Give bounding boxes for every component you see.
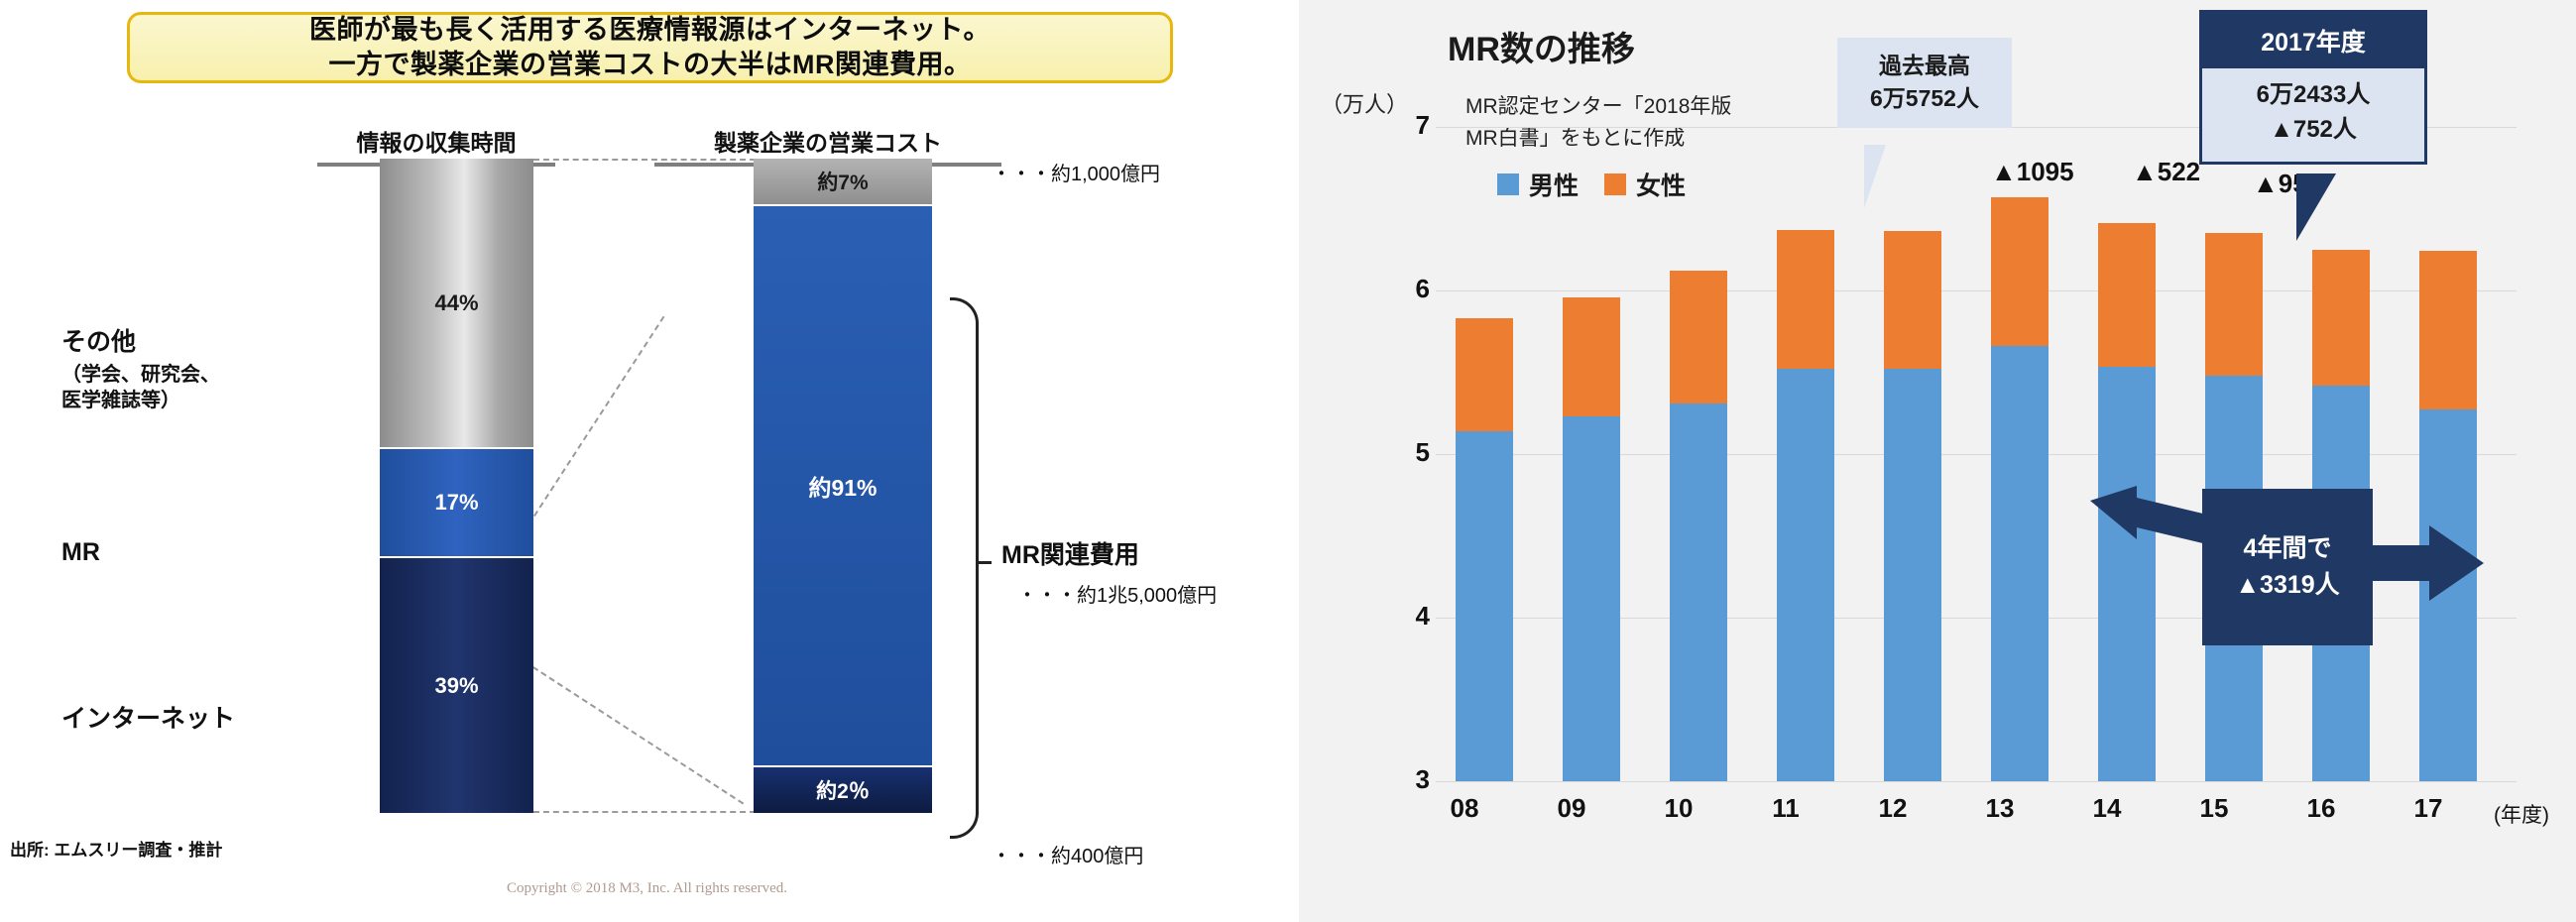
y-tick-5: 5 [1386, 437, 1430, 468]
x-label-12: 12 [1858, 793, 1928, 824]
bar-segment-mr: 17% [380, 447, 533, 558]
brace-bracket [950, 297, 979, 839]
connector-upper-diagonal [533, 316, 664, 517]
source-note: 出所: エムスリー調査・推計 [10, 836, 222, 861]
callout-2017-header: 2017年度 [2202, 13, 2424, 68]
callout-2017-body: 6万2433人 ▲752人 [2202, 68, 2424, 162]
cost-segment-other: 約7% [754, 159, 932, 204]
title-banner: 医師が最も長く活用する医療情報源はインターネット。 一方で製薬企業の営業コストの… [127, 12, 1173, 83]
row-label-internet: インターネット [61, 699, 235, 735]
callout-2017-line1: 6万2433人 [2202, 78, 2424, 113]
connector-top [533, 159, 756, 161]
callout-2017-line2: ▲752人 [2202, 113, 2424, 148]
callout-four-year-line1: 4年間で [2244, 530, 2332, 568]
callout-peak: 過去最高 6万5752人 [1837, 38, 2012, 128]
x-label-16: 16 [2286, 793, 2356, 824]
connector-bottom [533, 811, 756, 813]
plot-area: 7 6 5 4 3 [1408, 59, 2518, 781]
y-tick-7: 7 [1386, 110, 1430, 141]
note-mr-cost: MR関連費用 ・・・約1兆5,000億円 [1001, 535, 1217, 608]
row-label-mr: MR [61, 538, 100, 567]
x-label-14: 14 [2072, 793, 2142, 824]
x-label-10: 10 [1644, 793, 1713, 824]
callout-four-year: 4年間で ▲3319人 [2202, 489, 2373, 645]
cost-segment-mr: 約91% [754, 204, 932, 767]
delta-label-15: ▲522 [2132, 157, 2200, 187]
y-tick-4: 4 [1386, 601, 1430, 632]
title-line-2: 一方で製薬企業の営業コストの大半はMR関連費用。 [329, 48, 972, 82]
left-panel: 医師が最も長く活用する医療情報源はインターネット。 一方で製薬企業の営業コストの… [0, 0, 1294, 922]
x-label-17: 17 [2394, 793, 2463, 824]
slide: 医師が最も長く活用する医療情報源はインターネット。 一方で製薬企業の営業コストの… [0, 0, 2576, 922]
x-label-09: 09 [1537, 793, 1606, 824]
title-line-1: 医師が最も長く活用する医療情報源はインターネット。 [309, 13, 991, 48]
y-tick-6: 6 [1386, 274, 1430, 304]
x-label-11: 11 [1751, 793, 1820, 824]
y-tick-3: 3 [1386, 764, 1430, 795]
bar-information-time: 44% 17% 39% [380, 159, 533, 813]
callout-peak-tail [1864, 145, 1886, 208]
delta-label-14: ▲1095 [1991, 157, 2074, 187]
callout-2017-tail [2296, 173, 2336, 241]
bar-segment-other: 44% [380, 159, 533, 447]
row-label-other-sub: （学会、研究会、 医学雑誌等） [61, 362, 220, 413]
callout-peak-line2: 6万5752人 [1847, 82, 2002, 115]
callout-peak-line1: 過去最高 [1847, 50, 2002, 82]
gridline-3 [1436, 781, 2517, 782]
x-label-13: 13 [1965, 793, 2035, 824]
x-label-08: 08 [1430, 793, 1499, 824]
note-other-cost: ・・・約1,000億円 [992, 158, 1160, 186]
x-axis-unit-label: (年度) [2494, 799, 2549, 829]
row-label-other-main: その他 [61, 322, 220, 358]
connector-lower-diagonal [532, 666, 744, 804]
bar-sales-cost: 約7% 約91% 約2％ [754, 159, 932, 813]
callout-four-year-line2: ▲3319人 [2235, 567, 2339, 605]
brace-nub [976, 561, 992, 564]
note-internet-cost: ・・・約400億円 [992, 840, 1143, 868]
x-label-15: 15 [2179, 793, 2249, 824]
row-label-other: その他 （学会、研究会、 医学雑誌等） [61, 322, 220, 413]
cost-segment-internet: 約2％ [754, 767, 932, 813]
mr-cost-value: ・・・約1兆5,000億円 [1017, 579, 1217, 608]
copyright-notice: Copyright © 2018 M3, Inc. All rights res… [0, 880, 1294, 897]
bar-segment-internet: 39% [380, 558, 533, 813]
mr-cost-title: MR関連費用 [1001, 535, 1217, 571]
callout-2017: 2017年度 6万2433人 ▲752人 [2199, 10, 2427, 165]
